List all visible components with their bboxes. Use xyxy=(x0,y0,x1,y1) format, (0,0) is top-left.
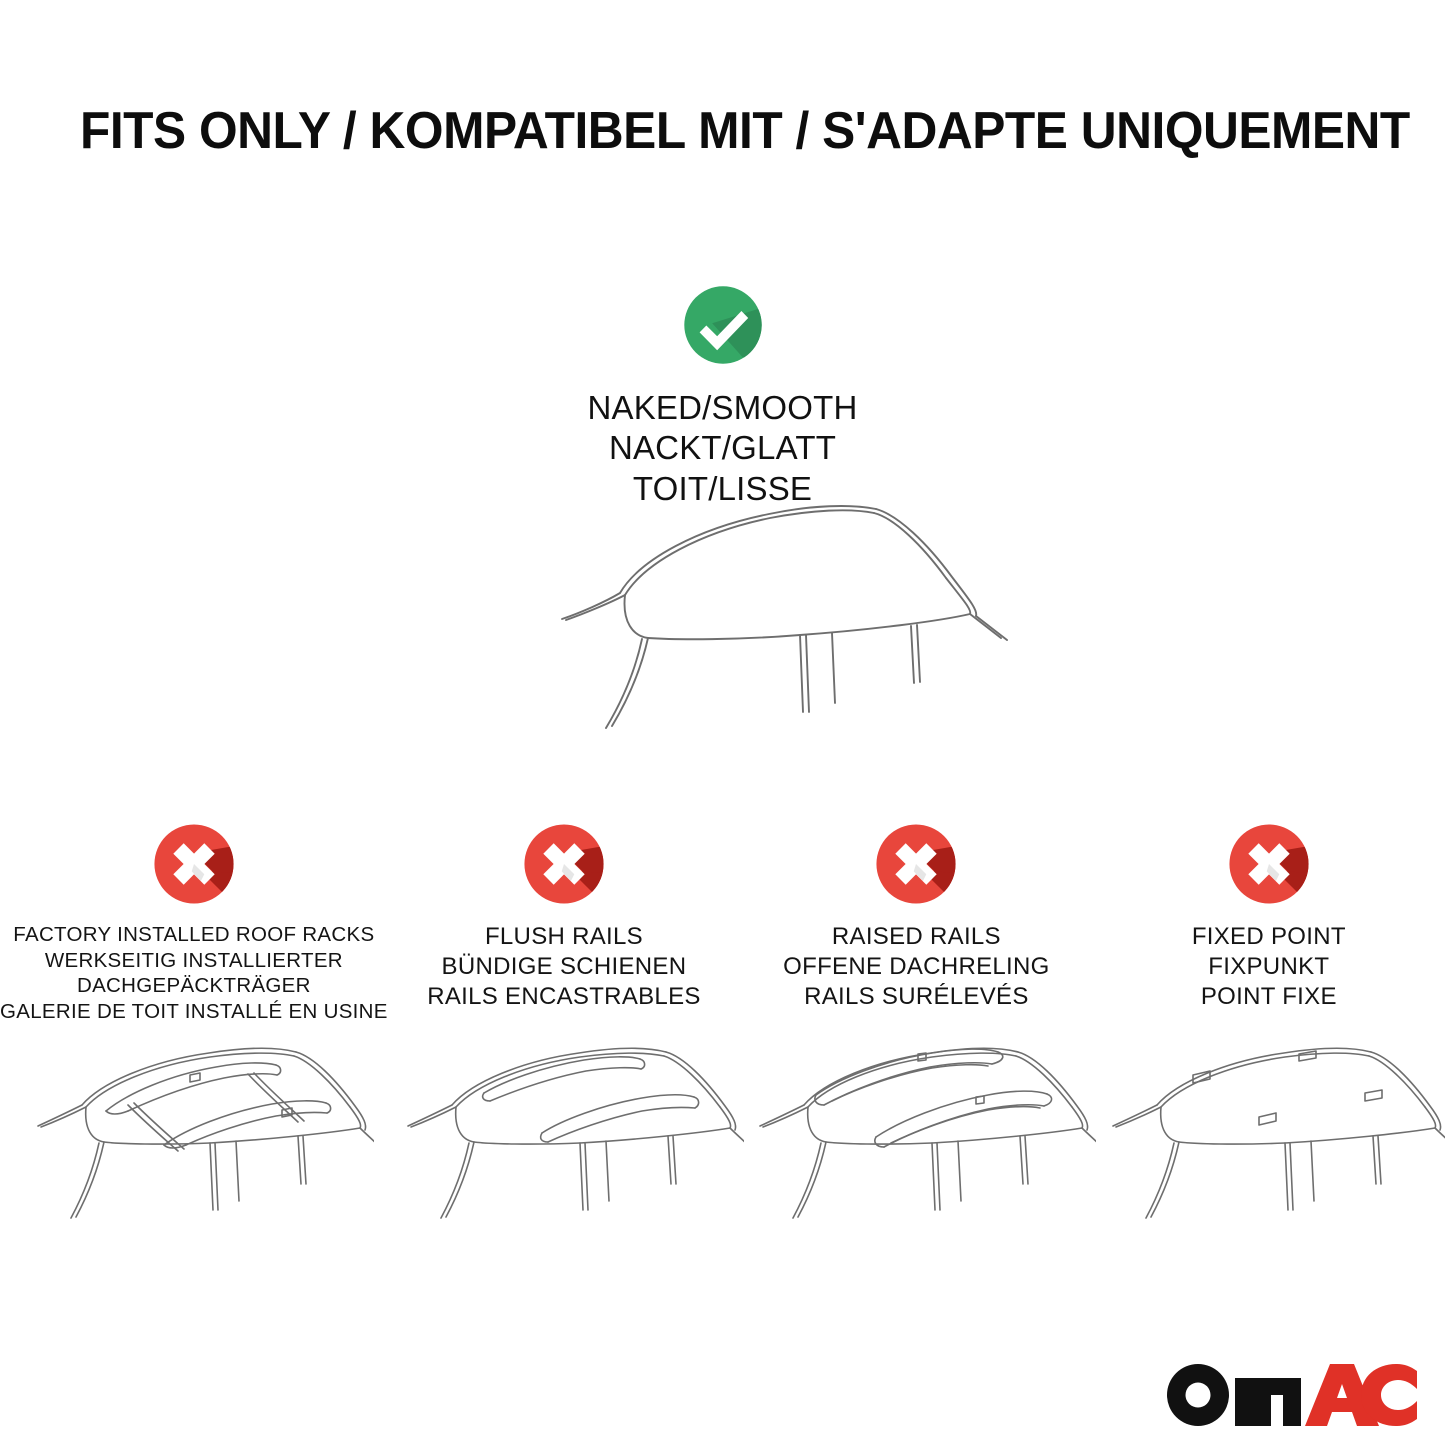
incompatible-item-flush-rails: FLUSH RAILS BÜNDIGE SCHIENEN RAILS ENCAS… xyxy=(388,818,740,1025)
logo-letter-m xyxy=(1235,1378,1301,1426)
label-line-1: FLUSH RAILS xyxy=(388,922,740,952)
label-line-3: DACHGEPÄCKTRÄGER xyxy=(0,973,388,999)
car-roof-flush-rails-illustration xyxy=(384,1033,744,1263)
check-circle-icon xyxy=(678,280,768,370)
label-line-2: OFFENE DACHRELING xyxy=(740,952,1092,982)
incompatible-item-fixed-point: FIXED POINT FIXPUNKT POINT FIXE xyxy=(1093,818,1445,1025)
label-line-2: FIXPUNKT xyxy=(1093,952,1445,982)
car-roof-fixed-point-illustration xyxy=(1089,1033,1445,1263)
label-line-2: BÜNDIGE SCHIENEN xyxy=(388,952,740,982)
label-line-2: WERKSEITIG INSTALLIERTER xyxy=(0,948,388,974)
incompatible-item-raised-rails: RAISED RAILS OFFENE DACHRELING RAILS SUR… xyxy=(740,818,1092,1025)
x-circle-icon xyxy=(148,818,240,910)
label-line-1: FIXED POINT xyxy=(1093,922,1445,952)
logo-letter-o xyxy=(1167,1364,1229,1426)
compatible-section: NAKED/SMOOTH NACKT/GLATT TOIT/LISSE xyxy=(0,280,1445,509)
incompatible-section: FACTORY INSTALLED ROOF RACKS WERKSEITIG … xyxy=(0,818,1445,1025)
page-title: FITS ONLY / KOMPATIBEL MIT / S'ADAPTE UN… xyxy=(80,104,1322,159)
label-line-3: POINT FIXE xyxy=(1093,982,1445,1012)
incompatible-labels-flush-rails: FLUSH RAILS BÜNDIGE SCHIENEN RAILS ENCAS… xyxy=(388,922,740,1012)
car-roof-raised-rails-illustration xyxy=(736,1033,1096,1263)
label-line-1: FACTORY INSTALLED ROOF RACKS xyxy=(0,922,388,948)
incompatible-labels-factory-installed-roof-racks: FACTORY INSTALLED ROOF RACKS WERKSEITIG … xyxy=(0,922,388,1025)
label-line-4: GALERIE DE TOIT INSTALLÉ EN USINE xyxy=(0,999,388,1025)
car-roof-factory-racks-illustration xyxy=(14,1033,374,1263)
incompatible-labels-fixed-point: FIXED POINT FIXPUNKT POINT FIXE xyxy=(1093,922,1445,1012)
car-roof-naked-smooth-illustration xyxy=(470,490,1010,740)
x-circle-icon xyxy=(870,818,962,910)
x-circle-icon xyxy=(1223,818,1315,910)
compatible-label-en: NAKED/SMOOTH xyxy=(0,388,1445,428)
label-line-1: RAISED RAILS xyxy=(740,922,1092,952)
compatible-label-de: NACKT/GLATT xyxy=(0,428,1445,468)
x-circle-icon xyxy=(518,818,610,910)
incompatible-labels-raised-rails: RAISED RAILS OFFENE DACHRELING RAILS SUR… xyxy=(740,922,1092,1012)
incompatible-item-factory-installed-roof-racks: FACTORY INSTALLED ROOF RACKS WERKSEITIG … xyxy=(0,818,388,1025)
label-line-3: RAILS ENCASTRABLES xyxy=(388,982,740,1012)
label-line-3: RAILS SURÉLEVÉS xyxy=(740,982,1092,1012)
omac-logo xyxy=(1165,1359,1417,1431)
